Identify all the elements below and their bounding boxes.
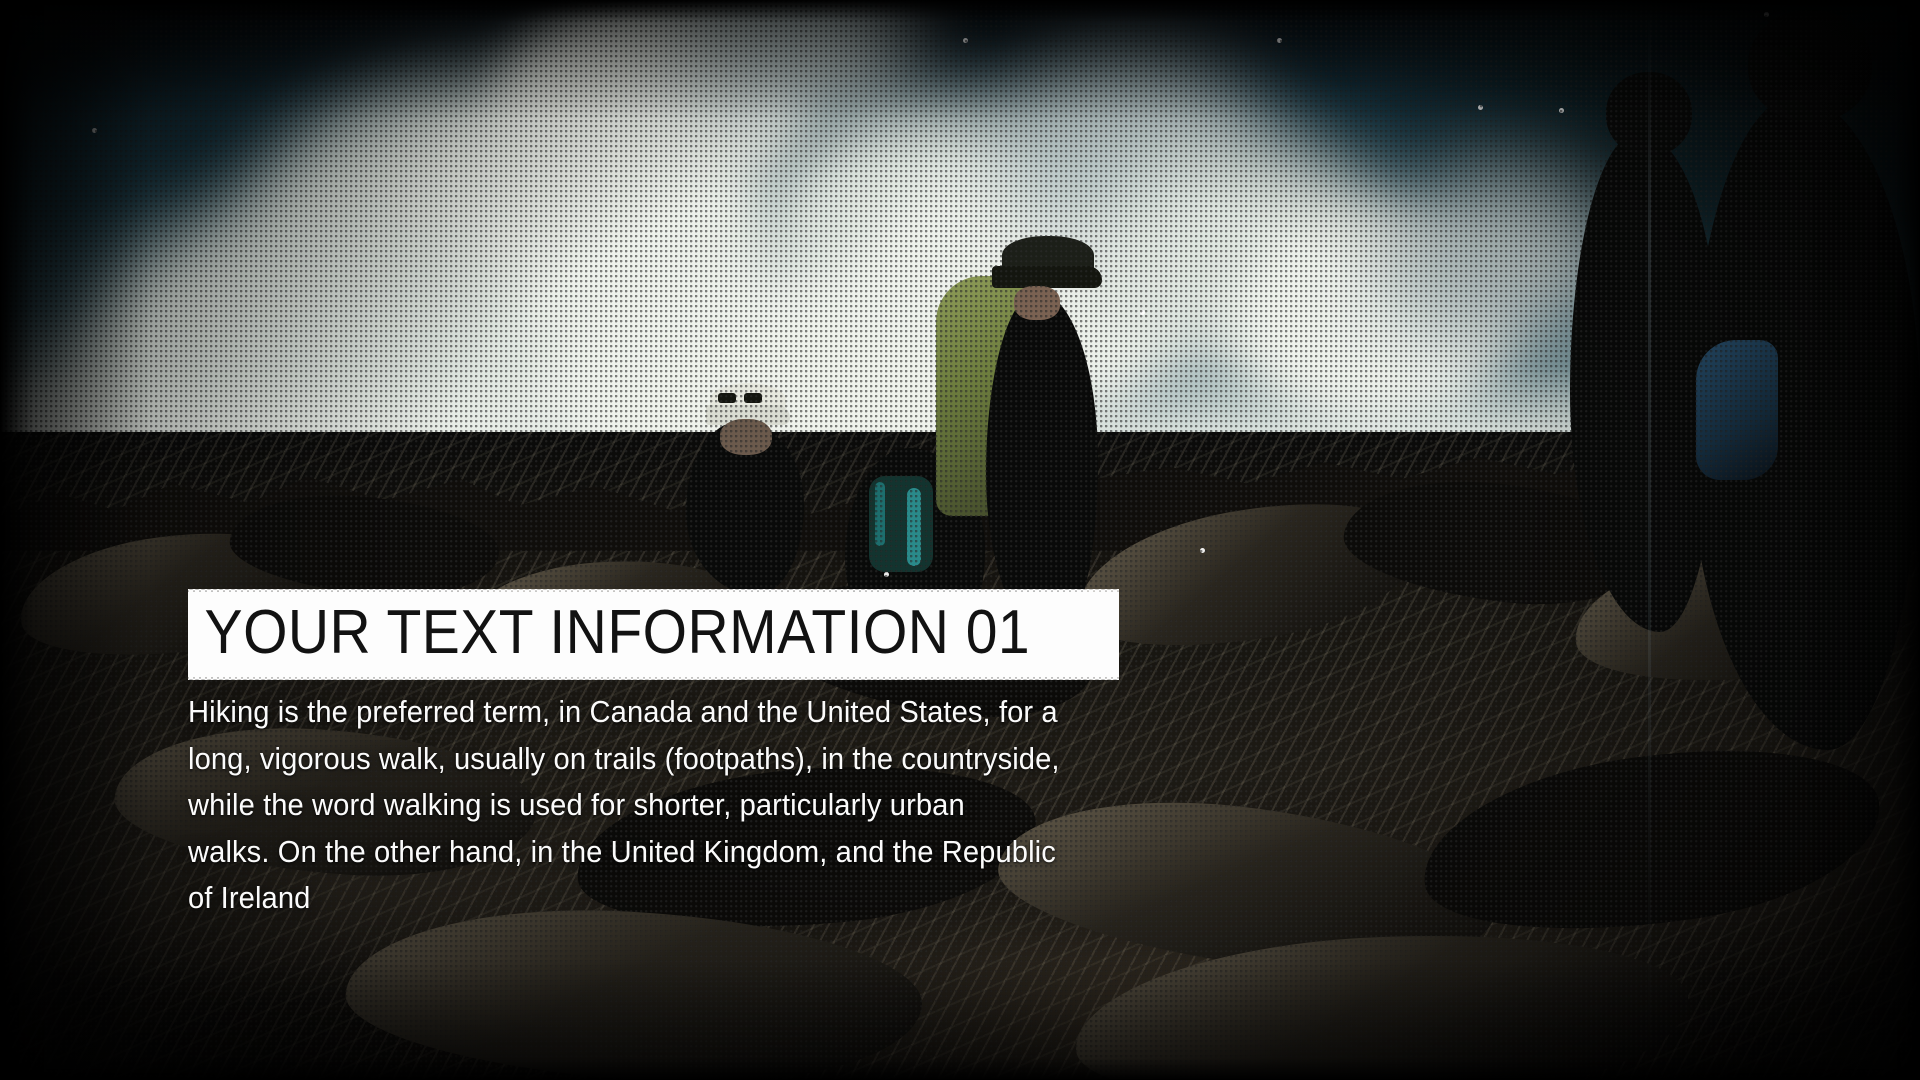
body-line: long, vigorous walk, usually on trails (…: [188, 736, 978, 783]
body-line: of Ireland: [188, 875, 978, 922]
body-paragraph: Hiking is the preferred term, in Canada …: [188, 689, 978, 922]
text-overlay-block: YOUR TEXT INFORMATION 01 Hiking is the p…: [188, 592, 1048, 922]
body-line: Hiking is the preferred term, in Canada …: [188, 689, 978, 736]
dust-speck: [1478, 105, 1483, 110]
dust-speck: [1200, 548, 1205, 553]
body-line: while the word walking is used for short…: [188, 782, 978, 829]
slide-root: YOUR TEXT INFORMATION 01 Hiking is the p…: [0, 0, 1920, 1080]
dust-speck: [1140, 310, 1145, 315]
hiker-with-white-cap: [680, 375, 810, 595]
dust-speck: [92, 128, 97, 133]
dust-speck: [884, 572, 889, 577]
hiker-silhouette-far-right: [1690, 10, 1920, 750]
dust-speck: [1559, 108, 1564, 113]
body-line: walks. On the other hand, in the United …: [188, 829, 978, 876]
dust-speck: [1277, 38, 1282, 43]
dust-speck: [1764, 12, 1769, 17]
title-banner: YOUR TEXT INFORMATION 01: [188, 592, 1119, 677]
dust-speck: [963, 38, 968, 43]
page-title: YOUR TEXT INFORMATION 01: [188, 592, 1045, 677]
